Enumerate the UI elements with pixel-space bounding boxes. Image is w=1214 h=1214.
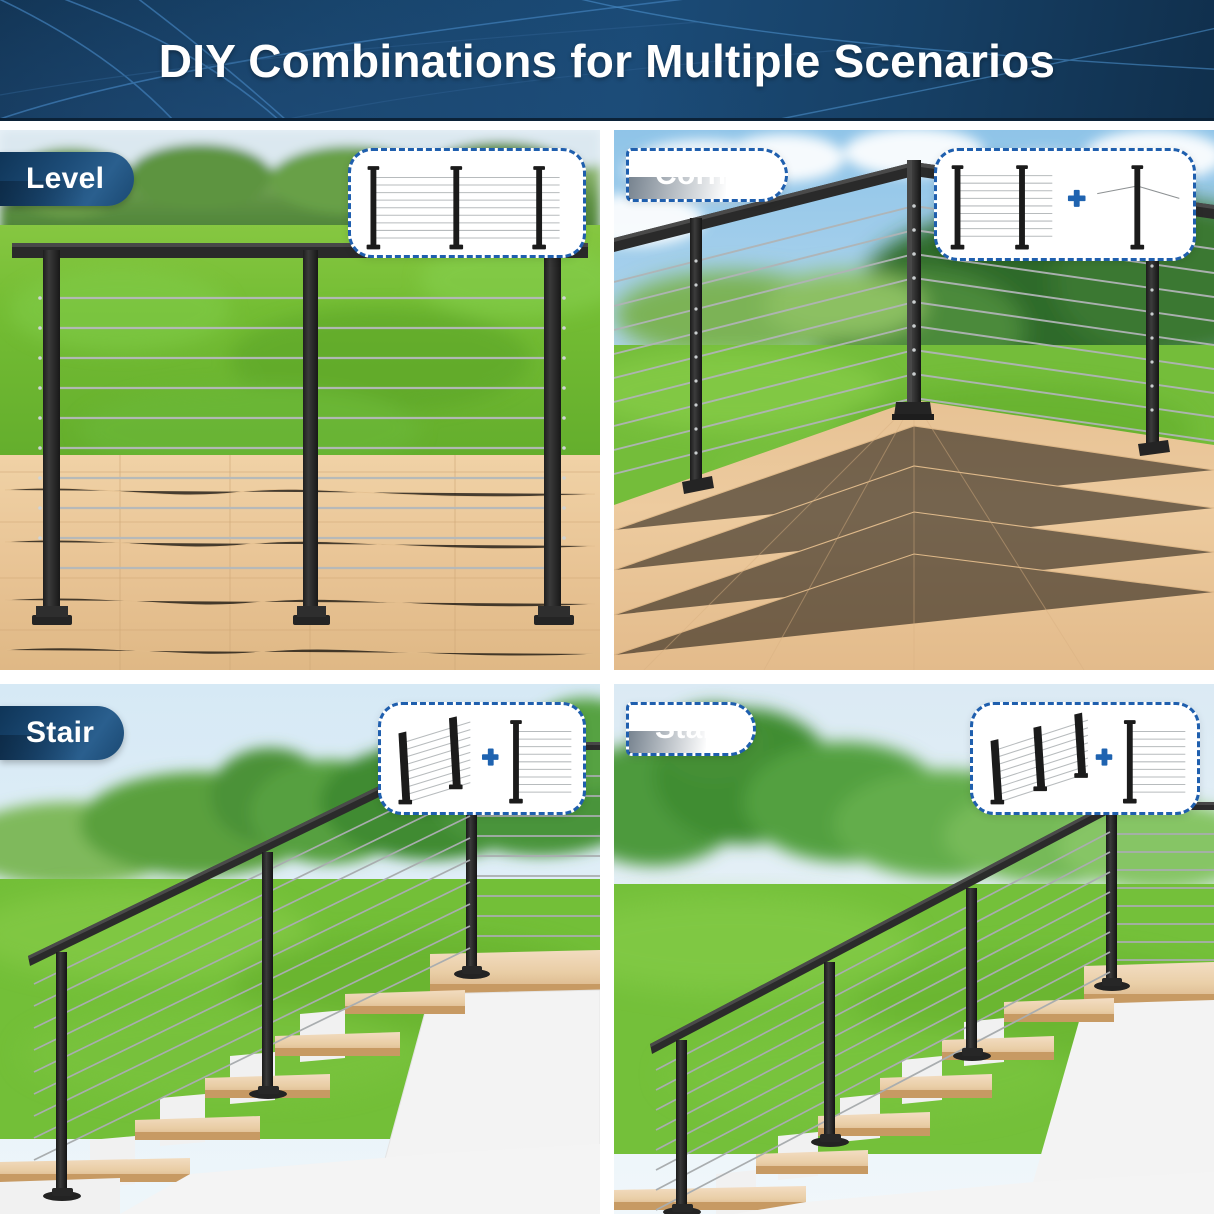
diagram-corner — [934, 148, 1196, 261]
badge-label: Level — [26, 162, 104, 196]
badge-label: Stair — [26, 716, 94, 750]
badge-label: Stair — [655, 712, 723, 746]
badge-label: Corner — [655, 158, 755, 192]
page-title: DIY Combinations for Multiple Scenarios — [0, 34, 1214, 88]
panel-level[interactable]: Level — [0, 130, 600, 670]
badge-corner: Corner — [626, 148, 788, 202]
header-bottom-edge — [0, 118, 1214, 121]
diagram-stair-right — [970, 702, 1200, 815]
badge-stair-right: Stair — [626, 702, 756, 756]
badge-level: Level — [0, 152, 134, 206]
product-infographic: DIY Combinations for Multiple Scenarios — [0, 0, 1214, 1214]
header-banner: DIY Combinations for Multiple Scenarios — [0, 0, 1214, 121]
panel-stair-right[interactable]: Stair — [614, 684, 1214, 1214]
scenario-grid: Level — [0, 130, 1214, 1214]
panel-stair-left[interactable]: Stair — [0, 684, 600, 1214]
badge-stair-left: Stair — [0, 706, 124, 760]
diagram-level — [348, 148, 586, 258]
diagram-stair-left — [378, 702, 586, 815]
panel-corner[interactable]: Corner — [614, 130, 1214, 670]
